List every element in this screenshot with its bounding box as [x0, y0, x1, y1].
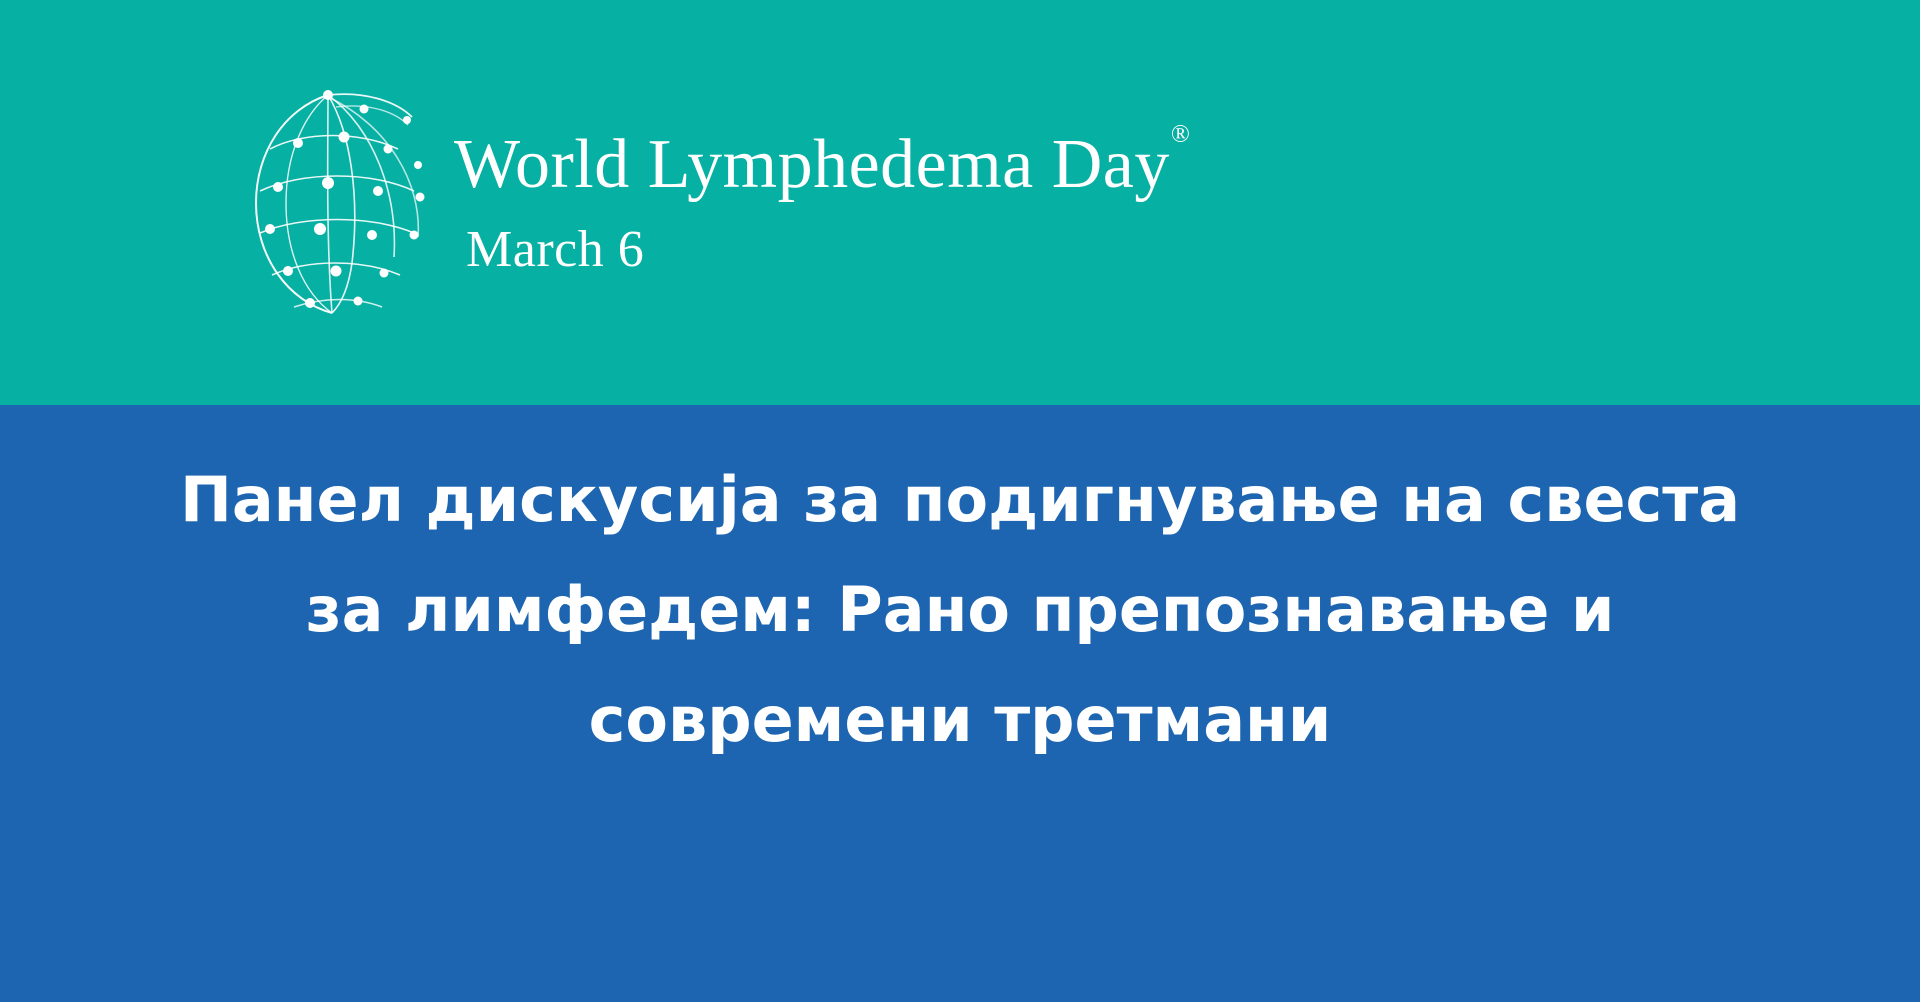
- logo-wordmark: World Lymphedema Day® March 6: [454, 130, 1189, 276]
- logo-date-line: March 6: [466, 224, 1189, 276]
- main-content-band: Панел дискусија за подигнување на свеста…: [0, 405, 1920, 1002]
- logo-brand-name: World Lymphedema Day®: [454, 130, 1189, 200]
- registered-trademark-icon: ®: [1171, 121, 1191, 148]
- page-title: Панел дискусија за подигнување на свеста…: [150, 445, 1770, 775]
- globe-network-mesh-icon: [232, 87, 432, 319]
- logo-brand-text: World Lymphedema Day: [454, 126, 1170, 203]
- world-lymphedema-day-logo[interactable]: World Lymphedema Day® March 6: [232, 87, 1189, 319]
- header-band: World Lymphedema Day® March 6: [0, 0, 1920, 405]
- poster-page: World Lymphedema Day® March 6 Панел диск…: [0, 0, 1920, 1002]
